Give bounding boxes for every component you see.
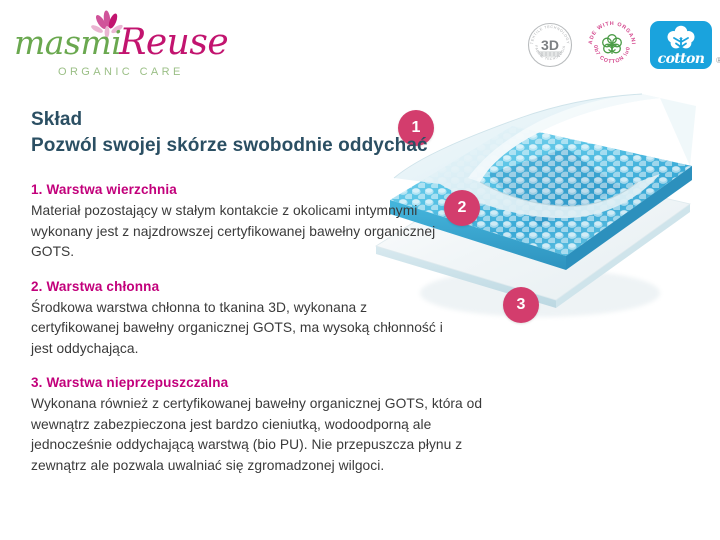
layer-marker-3: 3 bbox=[503, 287, 539, 323]
slide-root: masmiReuse ORGANIC CARE 3D TEXTILE TECHN… bbox=[0, 0, 720, 540]
layer-section-1-body: Materiał pozostający w stałym kontakcie … bbox=[31, 201, 471, 263]
made-with-organic-cotton-badge: MADE WITH ORGANIC \u00b7 COTTON \u00b7 bbox=[586, 19, 638, 71]
logo-reuse: Reuse bbox=[119, 22, 228, 63]
3d-textile-technology-badge: 3D TEXTILE TECHNOLOGY FABRIC TECNOLOGIA bbox=[526, 21, 574, 69]
page-heading: Skład Pozwól swojej skórze swobodnie odd… bbox=[31, 108, 451, 158]
layer-section-2-title: 2. Warstwa chłonna bbox=[31, 277, 501, 296]
layer-section-3: 3. Warstwa nieprzepuszczalna Wykonana ró… bbox=[31, 373, 501, 476]
layer-section-1-title: 1. Warstwa wierzchnia bbox=[31, 180, 501, 199]
page-title: Skład bbox=[31, 108, 451, 132]
layer-section-2: 2. Warstwa chłonna Środkowa warstwa chło… bbox=[31, 277, 501, 360]
certification-badges: 3D TEXTILE TECHNOLOGY FABRIC TECNOLOGIA … bbox=[526, 16, 712, 74]
cotton-boll-icon bbox=[668, 26, 695, 50]
cotton-boll-icon bbox=[603, 35, 622, 54]
svg-text:3D: 3D bbox=[541, 37, 559, 53]
logo-wordmark: masmiReuse bbox=[14, 22, 244, 64]
logo-masmi: masmi bbox=[14, 23, 121, 62]
layer-section-2-body: Środkowa warstwa chłonna to tkanina 3D, … bbox=[31, 298, 451, 360]
registered-trademark-mark: ® bbox=[716, 56, 720, 65]
layer-section-3-body: Wykonana również z certyfikowanej bawełn… bbox=[31, 394, 486, 476]
layer-descriptions: 1. Warstwa wierzchnia Materiał pozostają… bbox=[31, 180, 501, 490]
brand-logo: masmiReuse ORGANIC CARE bbox=[14, 22, 244, 84]
cotton-usa-badge: cotton ® bbox=[650, 21, 712, 69]
logo-tagline: ORGANIC CARE bbox=[58, 66, 244, 78]
page-subtitle: Pozwól swojej skórze swobodnie oddychać bbox=[31, 133, 451, 158]
layer-section-1: 1. Warstwa wierzchnia Materiał pozostają… bbox=[31, 180, 501, 263]
layer-section-3-title: 3. Warstwa nieprzepuszczalna bbox=[31, 373, 501, 392]
svg-text:cotton: cotton bbox=[658, 51, 705, 67]
